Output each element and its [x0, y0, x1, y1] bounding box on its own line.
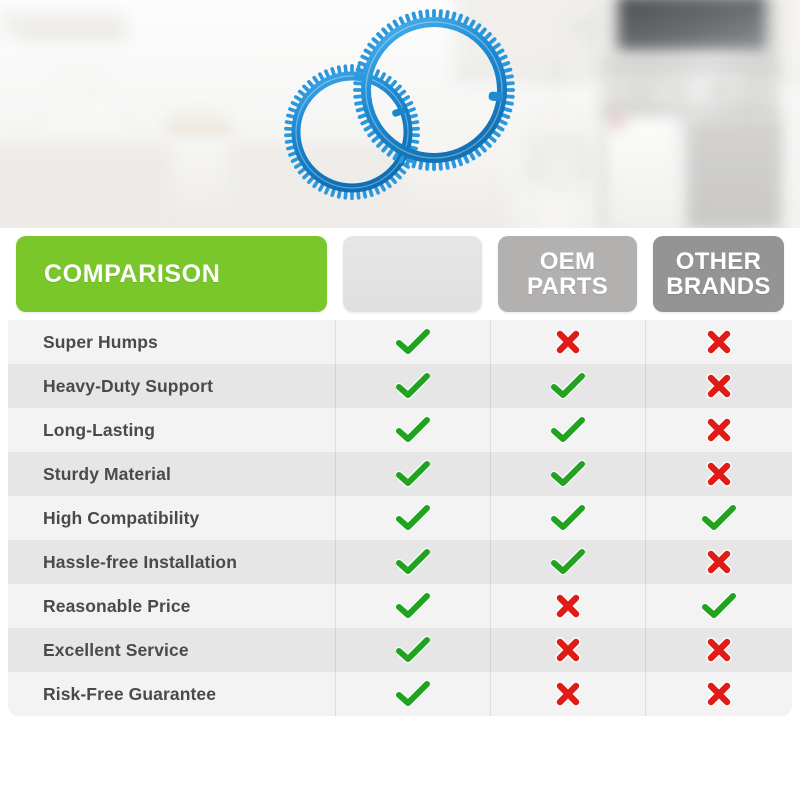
cross-icon [706, 461, 732, 487]
check-icon [702, 504, 736, 532]
table-row: Heavy-Duty Support [8, 364, 792, 408]
cross-icon [555, 681, 581, 707]
cell-ours-check [335, 496, 490, 540]
comparison-table: COMPARISON OEM PARTS OTHER BRANDS [8, 228, 792, 716]
cell-oem-cross [490, 320, 645, 364]
cell-oem-cross [490, 672, 645, 716]
header-label-other-brands: OTHER BRANDS [653, 249, 784, 300]
check-icon [396, 372, 430, 400]
cross-icon [555, 329, 581, 355]
feature-label: Sturdy Material [8, 464, 335, 485]
table-row: Super Humps [8, 320, 792, 364]
check-icon [396, 636, 430, 664]
header-cell-brand-logo [335, 228, 490, 320]
cross-icon [555, 593, 581, 619]
brush-ring-right [353, 9, 515, 171]
cross-icon [706, 637, 732, 663]
feature-label: Hassle-free Installation [8, 552, 335, 573]
feature-label: Long-Lasting [8, 420, 335, 441]
comparison-infographic: COMPARISON OEM PARTS OTHER BRANDS [0, 0, 800, 800]
check-icon [396, 328, 430, 356]
check-icon [396, 592, 430, 620]
table-row: Hassle-free Installation [8, 540, 792, 584]
cross-icon [706, 681, 732, 707]
check-icon [396, 416, 430, 444]
feature-label: Heavy-Duty Support [8, 376, 335, 397]
table-row: Reasonable Price [8, 584, 792, 628]
cross-icon [706, 329, 732, 355]
cell-ours-check [335, 628, 490, 672]
brush-ring-icon [274, 2, 526, 224]
cell-ours-check [335, 540, 490, 584]
table-row: Risk-Free Guarantee [8, 672, 792, 716]
cross-icon [555, 637, 581, 663]
cell-other-cross [645, 672, 792, 716]
check-icon [551, 460, 585, 488]
header-cell-comparison: COMPARISON [8, 228, 335, 320]
table-header-row: COMPARISON OEM PARTS OTHER BRANDS [8, 228, 792, 320]
table-row: Sturdy Material [8, 452, 792, 496]
header-cell-other-brands: OTHER BRANDS [645, 228, 792, 320]
check-icon [551, 504, 585, 532]
cross-icon [706, 417, 732, 443]
header-cell-oem-parts: OEM PARTS [490, 228, 645, 320]
cell-other-cross [645, 364, 792, 408]
cell-ours-check [335, 320, 490, 364]
cell-ours-check [335, 672, 490, 716]
check-icon [551, 416, 585, 444]
feature-label: Excellent Service [8, 640, 335, 661]
cell-other-check [645, 584, 792, 628]
check-icon [396, 460, 430, 488]
table-row: Long-Lasting [8, 408, 792, 452]
check-icon [551, 548, 585, 576]
check-icon [551, 372, 585, 400]
check-icon [396, 548, 430, 576]
cell-ours-check [335, 364, 490, 408]
feature-label: Reasonable Price [8, 596, 335, 617]
feature-label: Risk-Free Guarantee [8, 684, 335, 705]
feature-label: High Compatibility [8, 508, 335, 529]
header-label-comparison: COMPARISON [44, 260, 220, 289]
cell-ours-check [335, 452, 490, 496]
brush-ring-left [284, 64, 420, 200]
check-icon [396, 680, 430, 708]
cell-oem-check [490, 408, 645, 452]
cell-oem-check [490, 452, 645, 496]
table-row: Excellent Service [8, 628, 792, 672]
cell-other-cross [645, 408, 792, 452]
hero-product-image [0, 0, 800, 228]
cross-icon [706, 373, 732, 399]
cell-other-cross [645, 628, 792, 672]
cross-icon [706, 549, 732, 575]
cell-other-cross [645, 452, 792, 496]
cell-ours-check [335, 584, 490, 628]
cell-other-cross [645, 320, 792, 364]
cell-oem-check [490, 540, 645, 584]
cell-oem-cross [490, 628, 645, 672]
cell-ours-check [335, 408, 490, 452]
header-label-oem-parts: OEM PARTS [498, 249, 637, 300]
cell-other-cross [645, 540, 792, 584]
cell-oem-check [490, 496, 645, 540]
cell-other-check [645, 496, 792, 540]
check-icon [396, 504, 430, 532]
table-row: High Compatibility [8, 496, 792, 540]
feature-label: Super Humps [8, 332, 335, 353]
cell-oem-check [490, 364, 645, 408]
table-body: Super HumpsHeavy-Duty SupportLong-Lastin… [8, 320, 792, 716]
cell-oem-cross [490, 584, 645, 628]
check-icon [702, 592, 736, 620]
